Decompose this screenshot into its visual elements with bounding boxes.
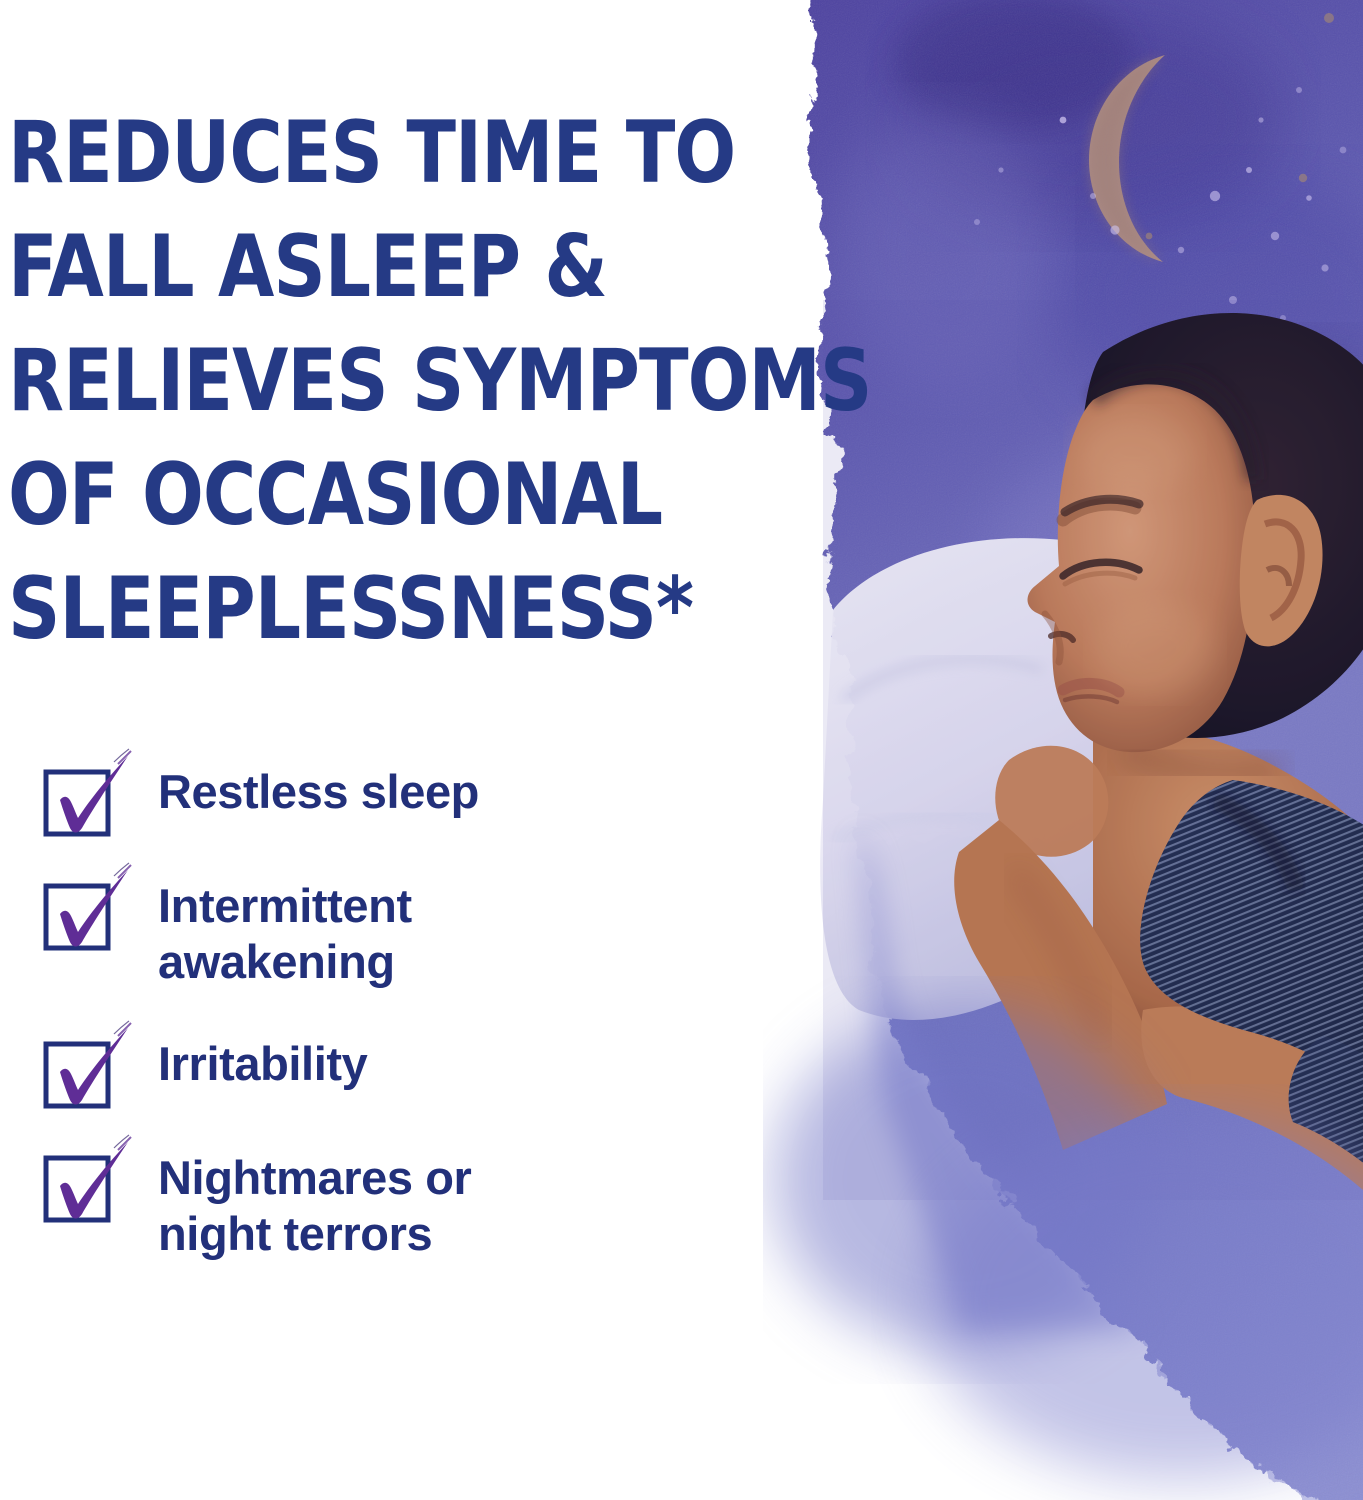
checkmark-in-box-icon bbox=[40, 862, 132, 954]
headline-line-1: REDUCES TIME TO bbox=[8, 96, 722, 210]
list-item-label: Irritability bbox=[158, 1034, 367, 1092]
artwork-panel bbox=[763, 0, 1363, 1500]
headline-line-3: RELIEVES SYMPTOMS bbox=[8, 324, 722, 438]
product-benefit-poster: REDUCES TIME TO FALL ASLEEP & RELIEVES S… bbox=[0, 0, 1363, 1500]
headline-line-2: FALL ASLEEP & bbox=[8, 210, 722, 324]
headline: REDUCES TIME TO FALL ASLEEP & RELIEVES S… bbox=[8, 96, 768, 666]
headline-line-4: OF OCCASIONAL bbox=[8, 438, 722, 552]
headline-line-5: SLEEPLESSNESS* bbox=[8, 552, 722, 666]
list-item-label: Restless sleep bbox=[158, 762, 479, 820]
symptom-checklist: Restless sleep Intermittent awakening bbox=[44, 762, 684, 1262]
checkbox-checked-icon bbox=[44, 1152, 110, 1218]
list-item: Irritability bbox=[44, 1034, 684, 1104]
list-item-label: Intermittent awakening bbox=[158, 876, 588, 990]
night-sky-sleeping-child-illustration bbox=[763, 0, 1363, 1500]
list-item: Restless sleep bbox=[44, 762, 684, 832]
list-item-label: Nightmares or night terrors bbox=[158, 1148, 588, 1262]
checkbox-checked-icon bbox=[44, 880, 110, 946]
checkmark-in-box-icon bbox=[40, 1020, 132, 1112]
list-item: Intermittent awakening bbox=[44, 876, 684, 990]
checkbox-checked-icon bbox=[44, 1038, 110, 1104]
list-item: Nightmares or night terrors bbox=[44, 1148, 684, 1262]
checkmark-in-box-icon bbox=[40, 748, 132, 840]
checkbox-checked-icon bbox=[44, 766, 110, 832]
checkmark-in-box-icon bbox=[40, 1134, 132, 1226]
